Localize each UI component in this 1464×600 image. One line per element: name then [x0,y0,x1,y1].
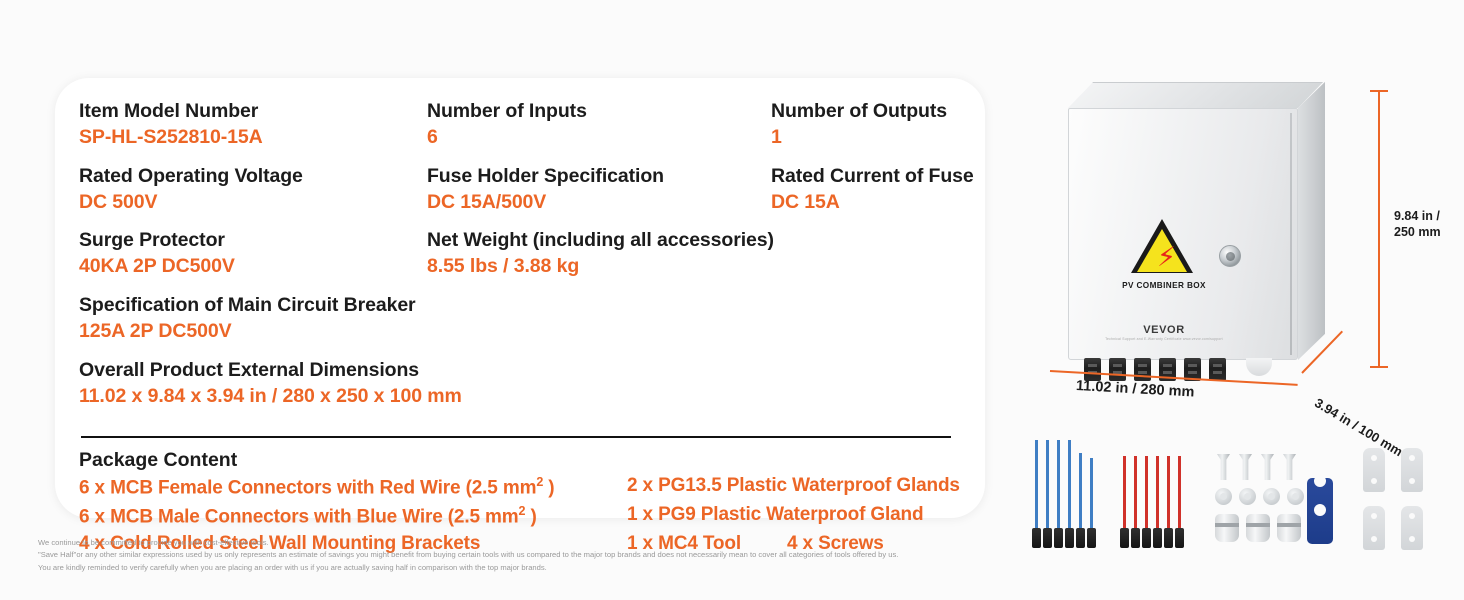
spec-grid: Item Model Number SP-HL-S252810-15A Numb… [79,100,963,424]
red-wire [1167,456,1170,548]
wire-connector [1032,528,1041,548]
wire-connector [1043,528,1052,548]
package-item: 6 x MCB Female Connectors with Red Wire … [79,475,627,499]
red-wire [1156,456,1159,548]
mounting-bracket [1401,448,1423,492]
blue-wire [1035,440,1038,548]
output-gland [1246,358,1272,376]
brand-subtext: Technical Support and E-Warranty Certifi… [1069,337,1259,341]
spec-item-surge-protector: Surge Protector 40KA 2P DC500V [79,229,427,279]
red-wire [1134,456,1137,548]
spec-value: SP-HL-S252810-15A [79,125,427,150]
mc4-connector [1084,358,1101,381]
spec-item-fuse-holder-specification: Fuse Holder Specification DC 15A/500V [427,165,771,215]
spec-item-net-weight: Net Weight (including all accessories) 8… [427,229,974,279]
box-side-face [1298,82,1325,360]
package-item: 2 x PG13.5 Plastic Waterproof Glands [627,475,963,499]
disclaimer-line-1: We continue to be committed to provide y… [38,537,898,549]
section-divider [81,436,951,438]
spec-label: Rated Current of Fuse [771,165,974,189]
width-dimension-label: 11.02 in / 280 mm [1076,378,1195,401]
spec-item-rated-current-of-fuse: Rated Current of Fuse DC 15A [771,165,974,215]
mc4-tool [1307,478,1333,544]
door-seam [1290,113,1292,355]
wire-connector [1054,528,1063,548]
spec-label: Specification of Main Circuit Breaker [79,294,974,318]
spec-label: Rated Operating Voltage [79,165,427,189]
waterproof-gland [1246,514,1270,542]
spec-label: Number of Outputs [771,100,974,124]
screw [1217,454,1230,480]
mounting-bracket [1363,448,1385,492]
disclaimer-line-2: "Save Half"or any other similar expressi… [38,549,898,561]
wire-connector [1175,528,1184,548]
spec-item-rated-operating-voltage: Rated Operating Voltage DC 500V [79,165,427,215]
mc4-connector [1209,358,1226,381]
spec-label: Number of Inputs [427,100,771,124]
waterproof-gland [1215,514,1239,542]
red-wire-group [1123,450,1181,548]
screw [1261,454,1274,480]
red-wire [1145,456,1148,548]
washer [1287,488,1304,505]
wire-connector [1076,528,1085,548]
spec-value: 40KA 2P DC500V [79,254,427,279]
height-dimension-line2: 250 mm [1394,224,1441,240]
blue-wire [1068,440,1071,548]
spec-value: DC 15A [771,190,974,215]
washer-group [1215,488,1304,505]
wire-connector [1120,528,1129,548]
package-content-title: Package Content [79,449,963,472]
mounting-bracket [1363,506,1385,550]
package-item-text: 6 x MCB Male Connectors with Blue Wire (… [79,506,519,527]
blue-wire-group [1035,440,1093,548]
wire-connector [1142,528,1151,548]
disclaimer: We continue to be committed to provide y… [38,537,898,574]
package-item: 6 x MCB Male Connectors with Blue Wire (… [79,504,627,528]
spec-item-external-dimensions: Overall Product External Dimensions 11.0… [79,359,974,409]
spec-item-number-of-inputs: Number of Inputs 6 [427,100,771,150]
height-dimension-label: 9.84 in / 250 mm [1394,208,1441,240]
wire-connector [1153,528,1162,548]
spec-label: Overall Product External Dimensions [79,359,974,383]
pv-combiner-box-label: PV COMBINER BOX [1069,281,1259,290]
package-item-suffix: ) [543,477,554,498]
package-item: 1 x PG9 Plastic Waterproof Gland [627,504,963,528]
mounting-bracket [1401,506,1423,550]
height-dimension-line [1378,90,1380,368]
spec-label: Net Weight (including all accessories) [427,229,974,253]
wire-connector [1164,528,1173,548]
spec-value: 125A 2P DC500V [79,319,974,344]
product-illustration: ⚡ PV COMBINER BOX VEVOR Technical Suppor… [1030,60,1464,420]
spec-value: 6 [427,125,771,150]
screw [1283,454,1296,480]
disclaimer-line-3: You are kindly reminded to verify carefu… [38,562,898,574]
brand-name: VEVOR [1069,324,1259,336]
washer [1239,488,1256,505]
spec-item-item-model-number: Item Model Number SP-HL-S252810-15A [79,100,427,150]
red-wire [1178,456,1181,548]
specification-card: Item Model Number SP-HL-S252810-15A Numb… [55,78,985,518]
package-item-suffix: ) [525,506,536,527]
screw-group [1217,454,1296,480]
spec-value: DC 15A/500V [427,190,771,215]
height-dimension-cap-bottom [1370,366,1388,368]
wire-connector [1065,528,1074,548]
wire-connector [1131,528,1140,548]
spec-item-number-of-outputs: Number of Outputs 1 [771,100,974,150]
package-item-text: 6 x MCB Female Connectors with Red Wire … [79,477,536,498]
gland-group [1215,514,1301,542]
box-front-face: ⚡ PV COMBINER BOX VEVOR Technical Suppor… [1068,108,1298,360]
waterproof-gland [1277,514,1301,542]
spec-label: Fuse Holder Specification [427,165,771,189]
spec-label: Surge Protector [79,229,427,253]
blue-wire [1079,453,1082,548]
bracket-group [1363,448,1443,550]
blue-wire [1090,458,1093,548]
red-wire [1123,456,1126,548]
wire-connector [1087,528,1096,548]
blue-wire [1046,440,1049,548]
washer [1215,488,1232,505]
spec-label: Item Model Number [79,100,427,124]
spec-value: 11.02 x 9.84 x 3.94 in / 280 x 250 x 100… [79,384,974,409]
brand-mark: VEVOR Technical Support and E-Warranty C… [1069,324,1259,341]
height-dimension-line1: 9.84 in / [1394,208,1441,224]
spec-value: 8.55 lbs / 3.88 kg [427,254,974,279]
spec-value: DC 500V [79,190,427,215]
screw [1239,454,1252,480]
accessories-illustration [1035,440,1435,552]
box-top-face [1068,82,1323,108]
high-voltage-bolt-icon: ⚡ [1157,244,1176,271]
washer [1263,488,1280,505]
spec-value: 1 [771,125,974,150]
height-dimension-cap-top [1370,90,1388,92]
blue-wire [1057,440,1060,548]
spec-item-main-circuit-breaker: Specification of Main Circuit Breaker 12… [79,294,974,344]
mc4-connector [1109,358,1126,381]
lock-icon [1219,245,1241,267]
